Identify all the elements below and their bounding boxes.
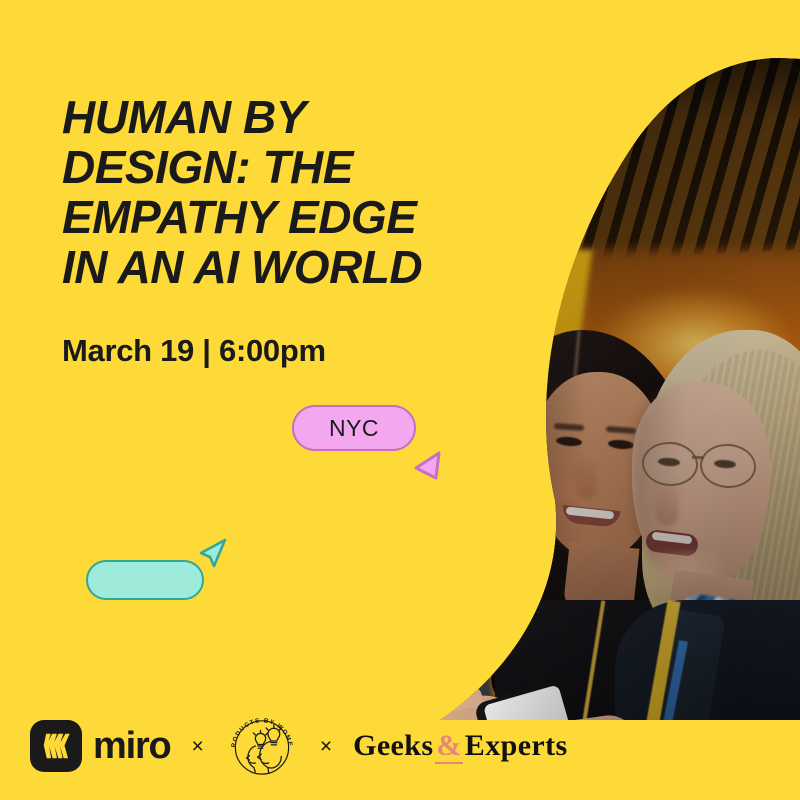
person-a-cheek	[552, 478, 592, 504]
geeks-and-experts-wordmark: Geeks&Experts	[353, 729, 568, 763]
teal-decorative-pill[interactable]	[86, 560, 204, 600]
location-pill-label: NYC	[329, 415, 379, 442]
geeks-label: Geeks	[353, 729, 433, 762]
booth-ring-graphic	[420, 300, 500, 366]
page-title: HUMAN BY DESIGN: THE EMPATHY EDGE IN AN …	[62, 92, 482, 292]
products-by-women-badge-icon: PRODUCTS BY WOMEN	[225, 709, 299, 783]
logo-separator-1: ×	[192, 736, 204, 757]
event-poster: HUMAN BY DESIGN: THE EMPATHY EDGE IN AN …	[0, 0, 800, 800]
experts-label: Experts	[465, 729, 568, 762]
microphone-stem	[454, 452, 458, 522]
ampersand-icon: &	[435, 729, 462, 764]
location-pill-nyc[interactable]: NYC	[292, 405, 416, 451]
miro-wordmark: miro	[93, 725, 171, 768]
miro-logo-icon	[30, 720, 82, 772]
svg-text:PRODUCTS BY WOMEN: PRODUCTS BY WOMEN	[225, 709, 294, 748]
event-date-time: March 19 | 6:00pm	[62, 333, 326, 369]
logo-separator-2: ×	[320, 736, 332, 757]
microphone-head	[443, 430, 469, 456]
partner-logo-bar: miro × PRODUCTS BY WOMEN	[30, 708, 568, 784]
pink-cursor-icon	[406, 447, 446, 487]
person-b-nose	[656, 478, 678, 526]
teal-cursor-icon	[196, 536, 230, 570]
